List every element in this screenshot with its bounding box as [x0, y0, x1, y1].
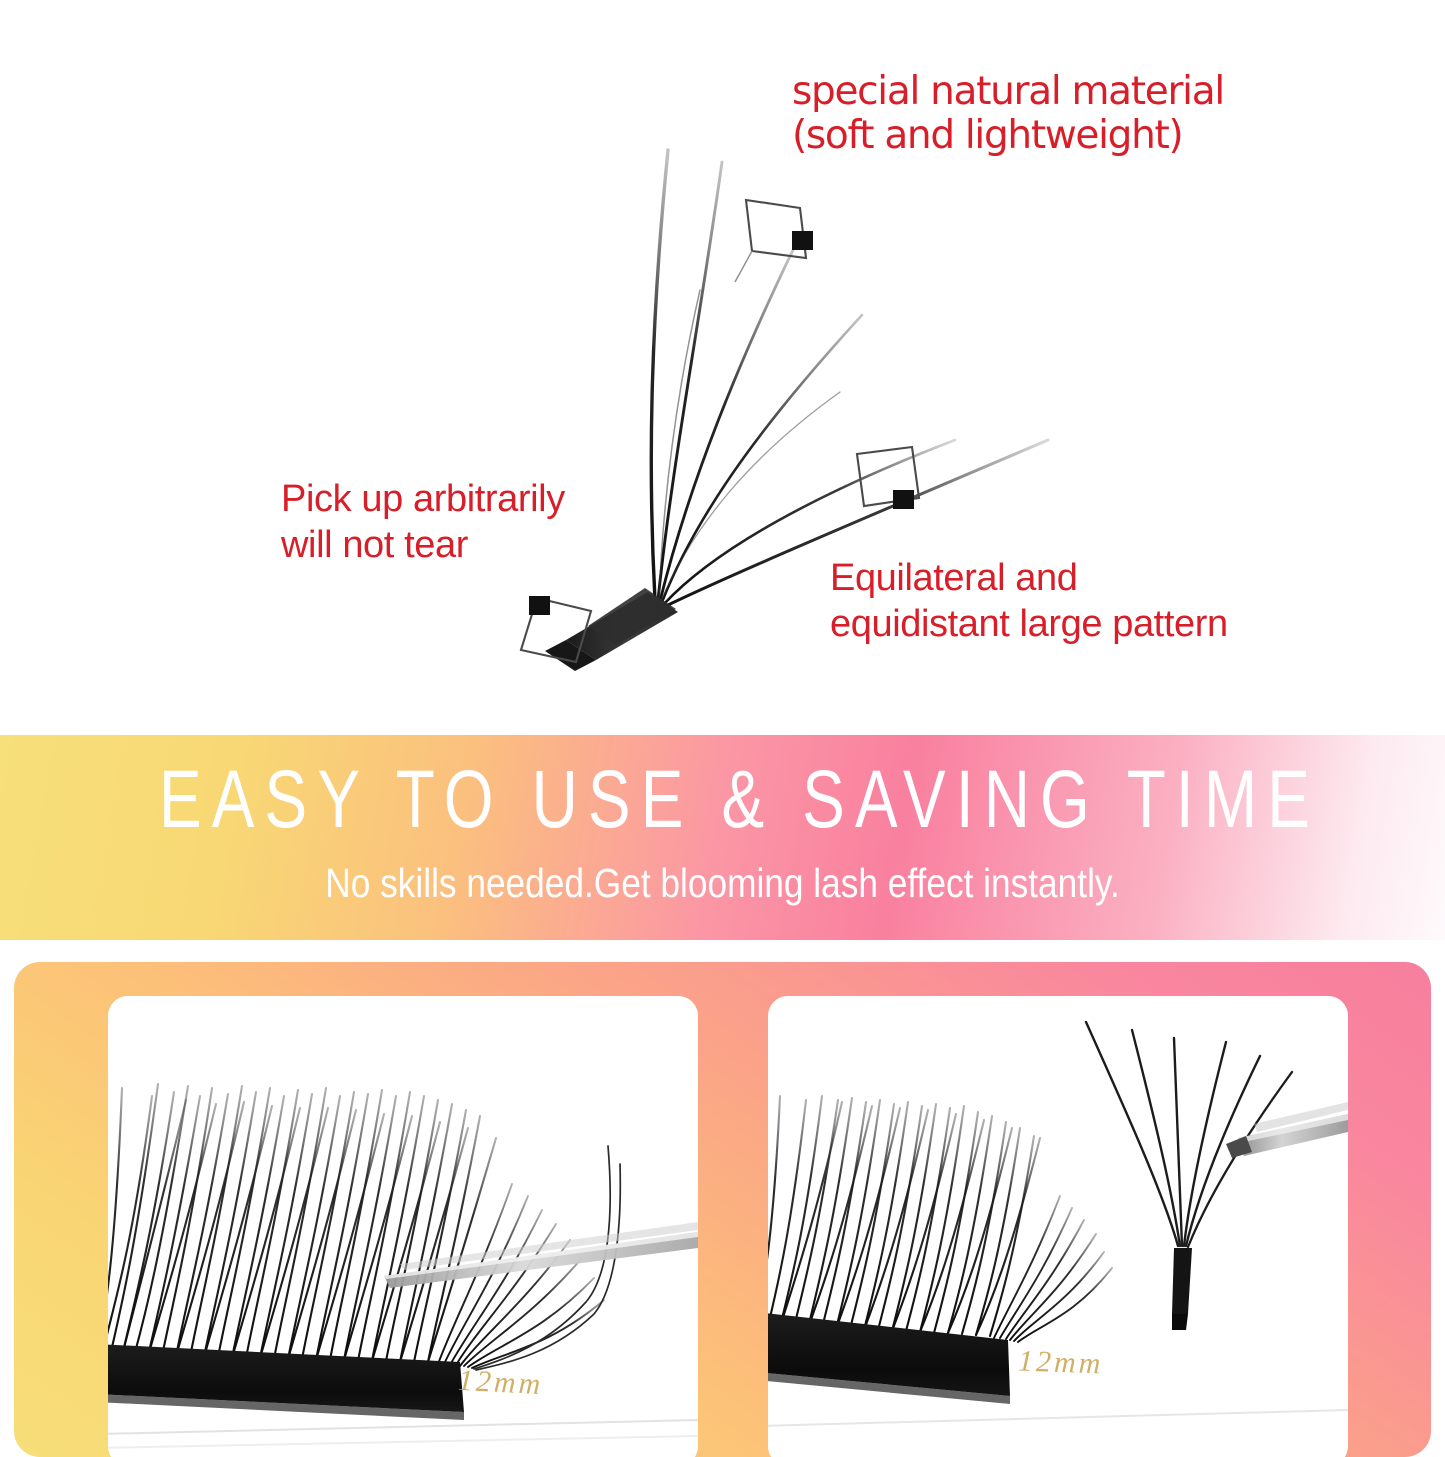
callout-box-tip	[735, 200, 813, 282]
size-print-left: 12mm	[457, 1364, 544, 1402]
callout-label-material: special natural material (soft and light…	[792, 70, 1224, 159]
lash-tray-with-tweezers-photo: 12mm	[108, 996, 698, 1457]
size-print-right: 12mm	[1017, 1345, 1103, 1382]
banner-subline: No skills needed.Get blooming lash effec…	[101, 863, 1344, 904]
lash-tray-illustration	[108, 996, 698, 1457]
callout-label-pickup: Pick up arbitrarily will not tear	[281, 477, 565, 568]
fan-pickup-with-tweezers-photo: 12mm	[768, 996, 1348, 1457]
diagram-section: special natural material (soft and light…	[0, 0, 1445, 735]
fan-pickup-illustration	[768, 996, 1348, 1457]
photo-panel: 12mm	[14, 962, 1431, 1457]
lash-fan-icon	[0, 0, 1445, 735]
promo-banner: EASY TO USE & SAVING TIME No skills need…	[0, 735, 1445, 940]
callout-label-pattern: Equilateral and equidistant large patter…	[830, 556, 1228, 647]
banner-headline: EASY TO USE & SAVING TIME	[159, 759, 1286, 841]
